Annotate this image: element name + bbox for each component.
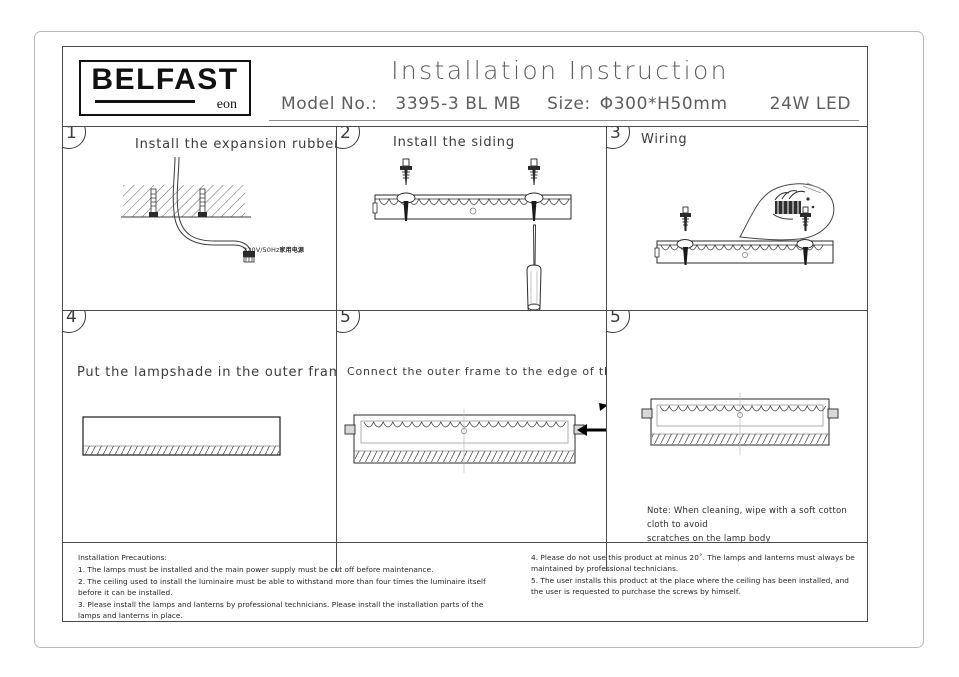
page-title: Installation Instruction (263, 56, 857, 85)
step-number-badge-3: 3 (607, 127, 630, 149)
step-panel-5: 5 Connect the outer frame to the edge of… (337, 311, 607, 571)
step-number-badge-6: 5 (607, 311, 630, 333)
voltage-label-group: 220V/50Hz家用电源 (243, 245, 304, 254)
step-number-badge-5: 5 (337, 311, 360, 333)
precautions-left-column: Installation Precautions: 1. The lamps m… (78, 552, 508, 621)
mounting-bar (373, 193, 571, 219)
cleaning-note: Note: When cleaning, wipe with a soft co… (647, 504, 862, 546)
wiring-detail-callout (740, 183, 834, 240)
step-4-illustration (63, 403, 337, 523)
step-panel-2: 2 Install the siding (337, 127, 607, 311)
voltage-label: 220V/50Hz (243, 246, 280, 254)
step-number-1: 1 (66, 127, 77, 143)
screwdriver-icon (527, 225, 541, 311)
cleaning-note-line1: Note: When cleaning, wipe with a soft co… (647, 504, 862, 532)
step-caption-4: Put the lampshade in the outer frame (77, 365, 337, 380)
precaution-item-3: 3. Please install the lamps and lanterns… (78, 599, 508, 622)
precaution-item-2: 2. The ceiling used to install the lumin… (78, 576, 508, 599)
step-caption-1: Install the expansion rubber (135, 137, 337, 152)
assembled-fixture (345, 409, 584, 473)
precautions-right-column: 4. Please do not use this product at min… (531, 552, 861, 598)
screw-left-3 (680, 207, 691, 231)
instruction-sheet: BELFAST eon Installation Instruction Mod… (0, 0, 959, 677)
step-number-2: 2 (340, 127, 351, 143)
step-panel-1: 1 Install the expansion rubber (63, 127, 337, 311)
power-value: 24W LED (770, 94, 851, 114)
precaution-item-4: 4. Please do not use this product at min… (531, 552, 861, 575)
instruction-table: BELFAST eon Installation Instruction Mod… (62, 46, 868, 622)
brand-rule (95, 100, 195, 103)
step-number-6: 5 (610, 311, 621, 327)
step-number-badge-1: 1 (63, 127, 86, 149)
step-2-illustration (337, 153, 607, 311)
step-6-illustration (607, 383, 867, 503)
step-panel-6: 5 (607, 311, 867, 571)
step-number-3: 3 (610, 127, 621, 143)
brand-logo: BELFAST eon (79, 60, 251, 116)
outer-frame-shape (83, 417, 280, 455)
step-panel-3: 3 Wiring (607, 127, 867, 311)
step-panel-4: 4 Put the lampshade in the outer frame (63, 311, 337, 571)
precaution-item-5: 5. The user installs this product at the… (531, 575, 861, 598)
model-specification-line: Model No.: 3395-3 BL MB Size: Φ300*H50mm… (269, 94, 859, 121)
step-number-5: 5 (340, 311, 351, 327)
size-label: Size: (547, 94, 591, 114)
precautions-section: Installation Precautions: 1. The lamps m… (63, 542, 867, 622)
precaution-item-1: 1. The lamps must be installed and the m… (78, 564, 508, 575)
model-value: 3395-3 BL MB (395, 94, 521, 114)
step-caption-2: Install the siding (393, 135, 515, 150)
step-5-illustration (337, 399, 607, 539)
step-number-badge-2: 2 (337, 127, 360, 149)
screw-left (400, 159, 412, 185)
brand-name: BELFAST (81, 65, 249, 95)
finished-fixture (642, 393, 838, 455)
precautions-title: Installation Precautions: (78, 552, 508, 563)
screw-right (528, 159, 540, 185)
step-caption-3: Wiring (641, 132, 687, 147)
ceiling-hatch (123, 185, 245, 217)
rotation-arrow (577, 403, 607, 436)
model-label: Model No.: (281, 94, 377, 114)
step-number-badge-4: 4 (63, 311, 86, 333)
voltage-note: 家用电源 (280, 247, 304, 254)
step-3-illustration (607, 155, 867, 311)
step-number-4: 4 (66, 311, 77, 327)
sheet-header: BELFAST eon Installation Instruction Mod… (63, 47, 867, 127)
step-caption-5: Connect the outer frame to the edge of t… (347, 365, 607, 378)
step-1-illustration (63, 157, 337, 311)
size-value: Φ300*H50mm (600, 94, 728, 114)
brand-subname: eon (217, 98, 237, 112)
